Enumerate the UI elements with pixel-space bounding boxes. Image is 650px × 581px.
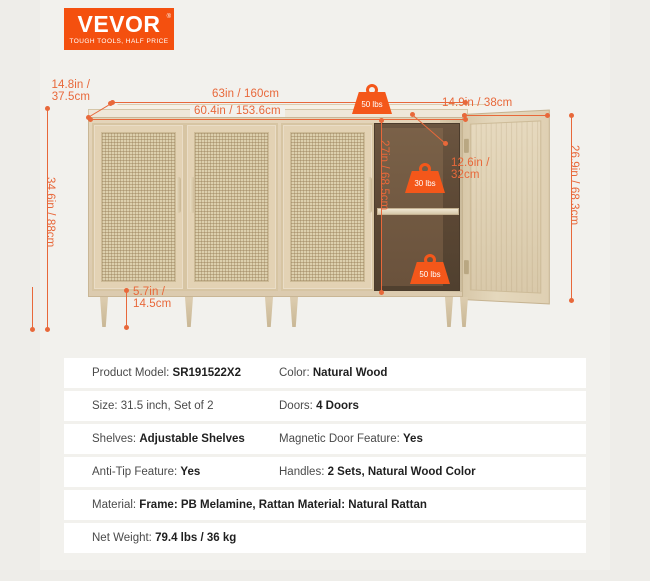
table-row: Shelves: Adjustable Shelves Magnetic Doo…	[64, 424, 586, 454]
spec-key: Magnetic Door Feature:	[279, 433, 403, 445]
weight-value: 50 lbs	[419, 270, 440, 279]
weight-icon-body: 50 lbs	[410, 262, 450, 284]
weight-icon-body: 30 lbs	[405, 171, 445, 193]
spec-key: Color:	[279, 367, 313, 379]
spec-value: Yes	[180, 466, 200, 478]
cabinet-leg	[100, 297, 108, 327]
dimension-endpoint	[443, 141, 448, 146]
spec-value: Yes	[403, 433, 423, 445]
weight-badge-top: 50 lbs	[352, 84, 392, 114]
cabinet-door-1	[92, 123, 185, 291]
cabinet-leg	[185, 297, 193, 327]
weight-icon-body: 50 lbs	[352, 92, 392, 114]
dimension-line-leg-guide	[32, 287, 33, 329]
logo-tagline: TOUGH TOOLS, HALF PRICE	[69, 38, 168, 45]
table-row: Net Weight: 79.4 lbs / 36 kg	[64, 523, 586, 553]
cabinet-leg	[460, 297, 468, 327]
spec-key: Material:	[92, 499, 139, 511]
rattan-panel	[101, 132, 176, 282]
dimension-label-door-width: 14.9in / 38cm	[442, 97, 512, 109]
spec-cell: Product Model: SR191522X2	[64, 367, 279, 379]
spec-key: Size:	[92, 400, 121, 412]
dimension-label-overall-width: 63in / 160cm	[212, 88, 279, 100]
dimension-endpoint	[88, 117, 93, 122]
registered-mark: ®	[167, 14, 171, 20]
dimension-line-door-width	[464, 115, 548, 116]
product-illustration: 14.8in / 37.5cm 63in / 160cm 60.4in / 15…	[0, 62, 650, 342]
spec-key: Shelves:	[92, 433, 139, 445]
cabinet-door-4-open	[462, 110, 550, 305]
spec-value: Frame: PB Melamine, Rattan Material: Nat…	[139, 499, 427, 511]
spec-value: 2 Sets, Natural Wood Color	[328, 466, 476, 478]
door-handle	[190, 177, 195, 213]
door-hinge-icon	[464, 139, 469, 153]
page-root: ® VEVOR TOUGH TOOLS, HALF PRICE	[0, 0, 650, 581]
spec-cell: Shelves: Adjustable Shelves	[64, 433, 279, 445]
table-row: Material: Frame: PB Melamine, Rattan Mat…	[64, 490, 586, 520]
dimension-endpoint	[379, 118, 384, 123]
spec-value: Adjustable Shelves	[139, 433, 244, 445]
table-row: Product Model: SR191522X2 Color: Natural…	[64, 358, 586, 388]
dimension-endpoint	[110, 100, 115, 105]
dimension-label-body-width: 60.4in / 153.6cm	[190, 105, 285, 117]
spec-key: Net Weight:	[92, 532, 155, 544]
dimension-label-overall-height: 34.6in / 88cm	[44, 177, 56, 247]
door-handle	[176, 177, 181, 213]
spec-cell: Size: 31.5 inch, Set of 2	[64, 400, 279, 412]
dimension-endpoint	[569, 113, 574, 118]
spec-key: Anti-Tip Feature:	[92, 466, 180, 478]
dimension-line-leg-height	[126, 290, 127, 328]
dimension-endpoint	[545, 113, 550, 118]
spec-value: 79.4 lbs / 36 kg	[155, 532, 236, 544]
cabinet-leg	[445, 297, 453, 327]
weight-badge-bottom: 50 lbs	[410, 254, 450, 284]
dimension-line-body-width	[90, 119, 466, 120]
dimension-label-door-height: 26.9in / 68.3cm	[568, 145, 580, 225]
rattan-panel	[194, 132, 269, 282]
dimension-label-leg-height: 5.7in / 14.5cm	[133, 286, 171, 310]
rattan-panel	[290, 132, 365, 282]
spec-cell: Net Weight: 79.4 lbs / 36 kg	[64, 532, 236, 544]
spec-key: Doors:	[279, 400, 316, 412]
dimension-label-shelf-depth: 12.6in / 32cm	[451, 157, 490, 181]
dimension-line-overall-width	[112, 102, 466, 103]
dimension-endpoint	[462, 113, 467, 118]
weight-value: 50 lbs	[361, 100, 382, 109]
vevor-logo: ® VEVOR TOUGH TOOLS, HALF PRICE	[64, 8, 174, 50]
dimension-endpoint	[30, 327, 35, 332]
dimension-endpoint	[45, 106, 50, 111]
spec-cell: Handles: 2 Sets, Natural Wood Color	[279, 466, 586, 478]
dimension-endpoint	[379, 290, 384, 295]
dimension-endpoint	[124, 325, 129, 330]
dimension-endpoint	[410, 112, 415, 117]
weight-value: 30 lbs	[414, 179, 435, 188]
spec-value: SR191522X2	[173, 367, 241, 379]
logo-wordmark: VEVOR	[77, 13, 160, 36]
dimension-endpoint	[45, 327, 50, 332]
spec-key: Product Model:	[92, 367, 173, 379]
weight-badge-shelf: 30 lbs	[405, 163, 445, 193]
door-hinge-icon	[464, 260, 469, 274]
table-row: Anti-Tip Feature: Yes Handles: 2 Sets, N…	[64, 457, 586, 487]
dimension-endpoint	[124, 288, 129, 293]
cabinet-leg	[265, 297, 273, 327]
specifications-table: Product Model: SR191522X2 Color: Natural…	[64, 358, 586, 556]
spec-cell: Doors: 4 Doors	[279, 400, 586, 412]
door-handle	[367, 177, 372, 213]
door-inner-panel	[470, 120, 541, 293]
dimension-endpoint	[569, 298, 574, 303]
spec-cell: Anti-Tip Feature: Yes	[64, 466, 279, 478]
spec-value: 31.5 inch, Set of 2	[121, 400, 214, 412]
spec-value: 4 Doors	[316, 400, 359, 412]
spec-cell: Magnetic Door Feature: Yes	[279, 433, 586, 445]
dimension-label-interior-height: 27in / 68.5cm	[378, 140, 390, 210]
cabinet-door-3	[281, 123, 374, 291]
table-row: Size: 31.5 inch, Set of 2 Doors: 4 Doors	[64, 391, 586, 421]
spec-key: Handles:	[279, 466, 328, 478]
dimension-label-depth: 14.8in / 37.5cm	[20, 79, 90, 103]
spec-cell: Material: Frame: PB Melamine, Rattan Mat…	[64, 499, 427, 511]
spec-value: Natural Wood	[313, 367, 388, 379]
cabinet-leg	[290, 297, 298, 327]
cabinet-door-2	[185, 123, 278, 291]
spec-cell: Color: Natural Wood	[279, 367, 586, 379]
